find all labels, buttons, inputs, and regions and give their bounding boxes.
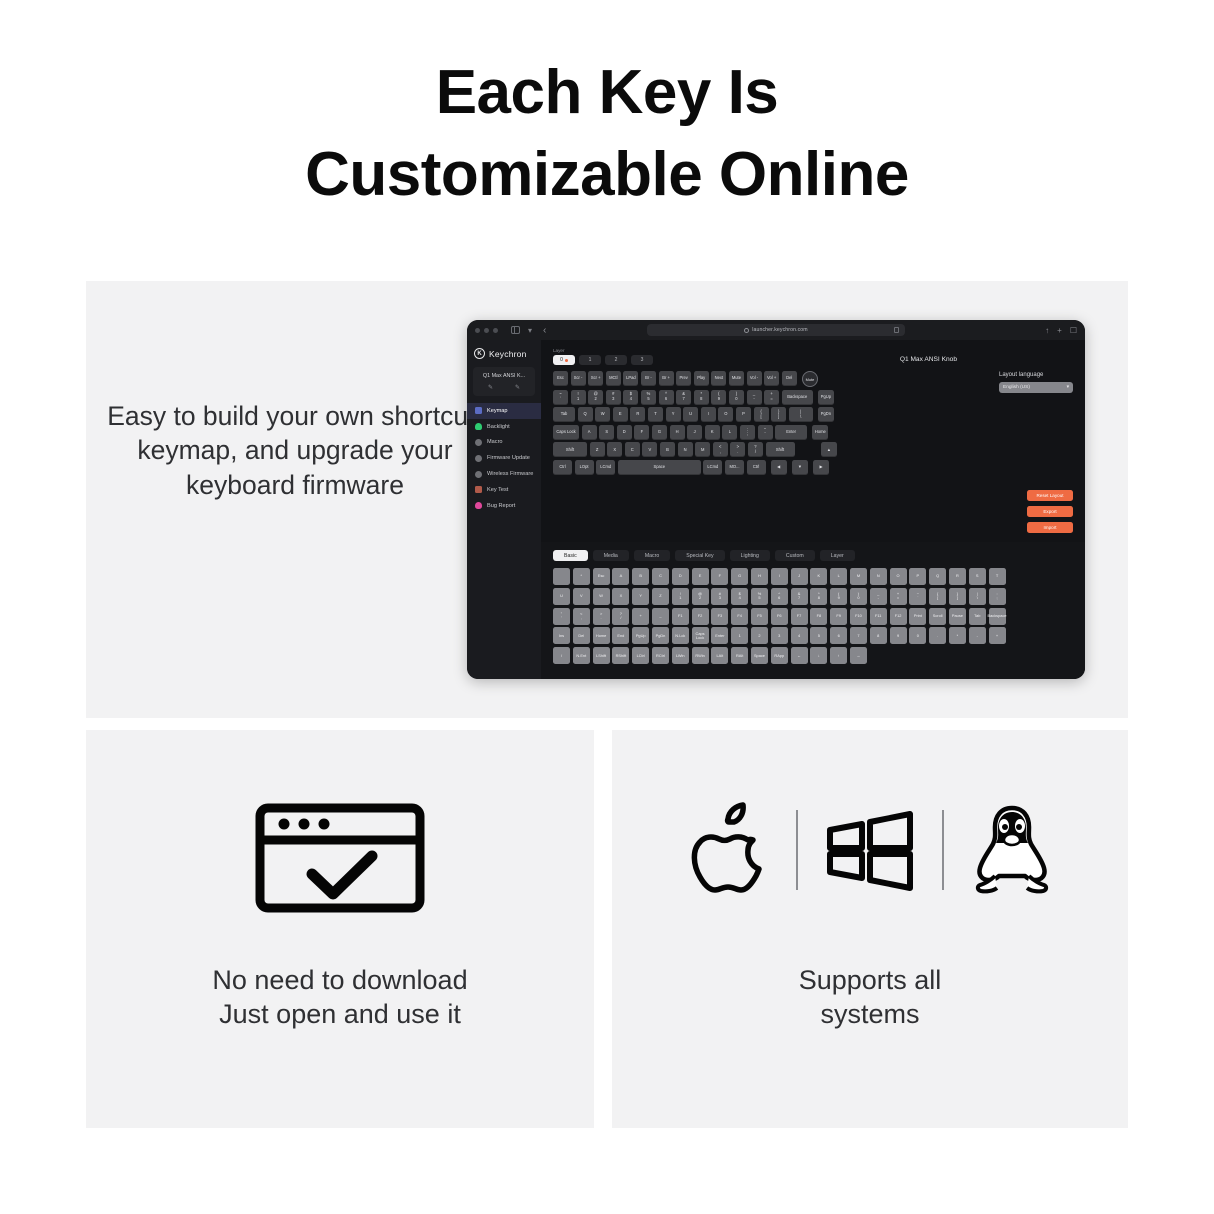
palette-key[interactable]: Y bbox=[632, 588, 649, 605]
keyboard-key[interactable]: <, bbox=[713, 442, 728, 457]
key-legend: Space bbox=[653, 465, 665, 470]
keyboard-key[interactable]: Ctrl bbox=[747, 460, 766, 475]
keyboard-key[interactable]: E bbox=[613, 407, 628, 422]
back-chevron-icon[interactable]: ‹ bbox=[543, 325, 546, 336]
palette-key[interactable]: F10 bbox=[850, 608, 867, 625]
palette-key[interactable]: Pause bbox=[949, 608, 966, 625]
keyboard-key[interactable]: A bbox=[582, 425, 597, 440]
keyboard-key[interactable]: Mute bbox=[729, 371, 744, 386]
brand-name: Keychron bbox=[489, 349, 527, 359]
tab-media[interactable]: Media bbox=[593, 550, 629, 561]
chevron-down-icon: ▾ bbox=[1067, 385, 1069, 390]
palette-key-legend: 6 bbox=[838, 634, 840, 638]
keyboard-key[interactable]: |\ bbox=[789, 407, 813, 422]
keyboard-key[interactable]: V bbox=[642, 442, 657, 457]
keyboard-key[interactable]: "' bbox=[758, 425, 773, 440]
palette-key[interactable]: #3 bbox=[711, 588, 728, 605]
keyboard-key[interactable]: )0 bbox=[729, 390, 744, 405]
tab-basic[interactable]: Basic bbox=[553, 550, 588, 561]
palette-key[interactable]: + bbox=[632, 608, 649, 625]
button-label: Export bbox=[1043, 509, 1056, 514]
palette-key[interactable]: + bbox=[989, 627, 1006, 644]
keyboard-spacer bbox=[800, 442, 816, 457]
keyboard-row: CtrlLOptLCmdSpaceLCmdMO...Ctrl◀▼▶ bbox=[553, 460, 883, 475]
palette-key[interactable]: LAlt bbox=[711, 647, 728, 664]
palette-key[interactable]: * bbox=[573, 568, 590, 585]
key-legend: ◀ bbox=[777, 465, 780, 470]
palette-key[interactable]: F7 bbox=[791, 608, 808, 625]
palette-key[interactable]: 8 bbox=[870, 627, 887, 644]
palette-key[interactable]: }] bbox=[949, 588, 966, 605]
palette-key[interactable]: 1 bbox=[731, 627, 748, 644]
palette-key[interactable]: PgUp bbox=[632, 627, 649, 644]
layer-button-1[interactable]: 1 bbox=[579, 355, 601, 365]
layer-button-2[interactable]: 2 bbox=[605, 355, 627, 365]
keyboard-key[interactable]: Shift bbox=[553, 442, 587, 457]
keyboard-key[interactable]: S bbox=[599, 425, 614, 440]
palette-key[interactable]: (9 bbox=[830, 588, 847, 605]
keyboard-key[interactable]: Br + bbox=[659, 371, 674, 386]
share-icon[interactable]: ↑ bbox=[1045, 326, 1049, 335]
keyboard-key[interactable]: D bbox=[617, 425, 632, 440]
keyboard-key[interactable]: H bbox=[670, 425, 685, 440]
palette-key[interactable]: * bbox=[949, 627, 966, 644]
palette-key[interactable]: += bbox=[890, 588, 907, 605]
palette-key-legend: RCtrl bbox=[656, 654, 665, 658]
palette-key[interactable]: N bbox=[870, 568, 887, 585]
palette-key[interactable]: RShift bbox=[612, 647, 629, 664]
palette-key[interactable]: ?/ bbox=[612, 608, 629, 625]
palette-key[interactable]: F2 bbox=[692, 608, 709, 625]
palette-key[interactable]: Del bbox=[573, 627, 590, 644]
keyboard-key[interactable]: }] bbox=[771, 407, 786, 422]
keyboard-key[interactable]: U bbox=[683, 407, 698, 422]
chevron-down-icon[interactable]: ▾ bbox=[528, 326, 532, 335]
palette-key[interactable]: B bbox=[632, 568, 649, 585]
key-legend: ▶ bbox=[820, 465, 823, 470]
tab-label: Special Key bbox=[686, 553, 713, 559]
plus-icon[interactable]: + bbox=[1057, 326, 1062, 335]
palette-key[interactable]: X bbox=[612, 588, 629, 605]
palette-key[interactable]: R bbox=[949, 568, 966, 585]
palette-key-legend: + bbox=[996, 634, 998, 638]
sidebar-item-bug-report[interactable]: Bug Report bbox=[467, 498, 541, 514]
keyboard-key[interactable]: J bbox=[687, 425, 702, 440]
tab-layer[interactable]: Layer bbox=[820, 550, 855, 561]
keymap-icon bbox=[475, 407, 482, 414]
sidebar-item-label: Backlight bbox=[487, 424, 510, 430]
key-legend: K bbox=[711, 430, 714, 435]
tab-macro[interactable]: Macro bbox=[634, 550, 670, 561]
key-legend-bottom: 8 bbox=[700, 397, 702, 402]
palette-key[interactable]: ~` bbox=[909, 588, 926, 605]
pencil-icon[interactable]: ✎ bbox=[515, 385, 521, 391]
palette-key[interactable]: D bbox=[672, 568, 689, 585]
sidebar-item-backlight[interactable]: Backlight bbox=[467, 419, 541, 435]
palette-key[interactable]: 7 bbox=[850, 627, 867, 644]
sidebar-item-firmware-update[interactable]: Firmware Update bbox=[467, 450, 541, 466]
palette-key[interactable]: F12 bbox=[890, 608, 907, 625]
key-legend: LCmd bbox=[600, 465, 611, 470]
reset-layout-button[interactable]: Reset Layout bbox=[1027, 490, 1073, 501]
keyboard-key[interactable]: ~` bbox=[553, 390, 568, 405]
keyboard-key[interactable]: F bbox=[634, 425, 649, 440]
palette-key[interactable]: RAlt bbox=[731, 647, 748, 664]
divider bbox=[796, 810, 798, 890]
palette-key[interactable]: A bbox=[612, 568, 629, 585]
export-button[interactable]: Export bbox=[1027, 506, 1073, 517]
tab-lighting[interactable]: Lighting bbox=[730, 550, 770, 561]
device-card[interactable]: Q1 Max ANSI K... ✎ ✎ bbox=[473, 367, 535, 396]
key-legend-bottom: 2 bbox=[595, 397, 597, 402]
reader-icon[interactable] bbox=[894, 327, 899, 333]
keyboard-key-arrow[interactable]: ▶ bbox=[813, 460, 829, 475]
palette-key-legend: * bbox=[581, 574, 583, 578]
palette-key[interactable]: LWin bbox=[672, 647, 689, 664]
palette-key[interactable]: >. bbox=[593, 608, 610, 625]
palette-key[interactable]: LCtrl bbox=[632, 647, 649, 664]
palette-key[interactable]: K bbox=[810, 568, 827, 585]
os-icon-row bbox=[686, 802, 1054, 898]
palette-key[interactable]: LShift bbox=[593, 647, 610, 664]
keyboard-key[interactable]: Vol - bbox=[747, 371, 762, 386]
palette-key[interactable]: $4 bbox=[731, 588, 748, 605]
palette-key[interactable]: )0 bbox=[850, 588, 867, 605]
palette-key-legend: E bbox=[699, 574, 702, 578]
palette-key[interactable]: 2 bbox=[751, 627, 768, 644]
browser-window-check-icon bbox=[254, 802, 426, 914]
palette-key[interactable]: F6 bbox=[771, 608, 788, 625]
keyboard-key[interactable]: PgDn bbox=[818, 407, 834, 422]
palette-key[interactable]: Tab bbox=[969, 608, 986, 625]
palette-key[interactable]: RApp bbox=[771, 647, 788, 664]
keyboard-key[interactable]: Prev bbox=[676, 371, 691, 386]
key-legend: D bbox=[623, 430, 626, 435]
palette-key[interactable]: N.Lck bbox=[672, 627, 689, 644]
palette-key[interactable]: _- bbox=[870, 588, 887, 605]
pencil-icon[interactable]: ✎ bbox=[488, 385, 494, 391]
close-icon[interactable] bbox=[475, 328, 480, 333]
palette-key[interactable]: End bbox=[612, 627, 629, 644]
device-card-actions: ✎ ✎ bbox=[477, 385, 531, 391]
layout-language-select[interactable]: English (US) ▾ bbox=[999, 382, 1073, 393]
palette-key[interactable]: ^6 bbox=[771, 588, 788, 605]
palette-key[interactable]: P bbox=[909, 568, 926, 585]
keyboard-key[interactable]: MCtl bbox=[606, 371, 621, 386]
feature-copy: Easy to build your own shortcut, keymap,… bbox=[104, 399, 486, 502]
palette-key[interactable]: F3 bbox=[711, 608, 728, 625]
sidebar-item-wireless-firmware[interactable]: Wireless Firmware bbox=[467, 466, 541, 482]
palette-key[interactable]: 4 bbox=[791, 627, 808, 644]
layout-language-value: English (US) bbox=[1003, 385, 1030, 390]
minimize-icon[interactable] bbox=[484, 328, 489, 333]
linux-penguin-icon bbox=[970, 802, 1054, 898]
keyboard-key[interactable]: Caps Lock bbox=[553, 425, 579, 440]
key-test-icon bbox=[475, 486, 482, 493]
palette-key[interactable]: O bbox=[890, 568, 907, 585]
keyboard-key[interactable]: >. bbox=[730, 442, 745, 457]
keyboard-key[interactable]: G bbox=[652, 425, 667, 440]
caption-line2: systems bbox=[612, 997, 1128, 1032]
keyboard-key[interactable]: LCmd bbox=[703, 460, 722, 475]
palette-key[interactable]: ↑ bbox=[830, 647, 847, 664]
palette-key[interactable]: S bbox=[969, 568, 986, 585]
key-legend-bottom: ; bbox=[747, 432, 748, 437]
palette-key[interactable]: _ bbox=[652, 608, 669, 625]
caption-line2: Just open and use it bbox=[86, 997, 594, 1032]
palette-key[interactable]: %5 bbox=[751, 588, 768, 605]
palette-key[interactable]: "' bbox=[553, 608, 570, 625]
palette-key[interactable]: @2 bbox=[692, 588, 709, 605]
keyboard-key[interactable]: W bbox=[595, 407, 610, 422]
keyboard-key[interactable]: K bbox=[705, 425, 720, 440]
feature-panel-customizable: Easy to build your own shortcut, keymap,… bbox=[86, 281, 1128, 718]
app-body: K Keychron Q1 Max ANSI K... ✎ ✎ Ke bbox=[467, 340, 1085, 679]
layer-button-3[interactable]: 3 bbox=[631, 355, 653, 365]
keyboard-key[interactable]: Ctrl bbox=[553, 460, 572, 475]
key-legend: U bbox=[689, 412, 692, 417]
palette-key[interactable]: Home bbox=[593, 627, 610, 644]
keyboard-key[interactable]: Scr + bbox=[588, 371, 603, 386]
palette-key-legend: N bbox=[877, 574, 880, 578]
palette-key[interactable]: 3 bbox=[771, 627, 788, 644]
palette-key[interactable]: F11 bbox=[870, 608, 887, 625]
palette-key-legend: RApp bbox=[774, 654, 784, 658]
palette-key-legend: F4 bbox=[737, 614, 742, 618]
key-legend: LPad bbox=[626, 376, 636, 381]
palette-key[interactable]: 6 bbox=[830, 627, 847, 644]
import-button[interactable]: Import bbox=[1027, 522, 1073, 533]
key-legend: M bbox=[701, 448, 704, 453]
key-legend-bottom: / bbox=[755, 450, 756, 455]
palette-key[interactable]: :; bbox=[989, 588, 1006, 605]
keyboard-key[interactable]: Next bbox=[711, 371, 726, 386]
palette-key-legend: F2 bbox=[698, 614, 703, 618]
palette-key[interactable]: Scroll bbox=[929, 608, 946, 625]
palette-key[interactable]: M bbox=[850, 568, 867, 585]
palette-key[interactable]: U bbox=[553, 588, 570, 605]
palette-key[interactable]: *8 bbox=[810, 588, 827, 605]
palette-key[interactable]: T bbox=[989, 568, 1006, 585]
palette-key[interactable]: Space bbox=[751, 647, 768, 664]
feature-panel-no-download: No need to download Just open and use it bbox=[86, 730, 594, 1128]
palette-key[interactable]: W bbox=[593, 588, 610, 605]
key-legend: J bbox=[694, 430, 696, 435]
keyboard-key[interactable]: X bbox=[607, 442, 622, 457]
palette-key[interactable]: Caps Lock bbox=[692, 627, 709, 644]
keyboard-key[interactable]: ^6 bbox=[659, 390, 674, 405]
palette-key[interactable]: 0 bbox=[909, 627, 926, 644]
palette-key[interactable]: N.Ent bbox=[573, 647, 590, 664]
keyboard-key[interactable]: (9 bbox=[711, 390, 726, 405]
keyboard-key[interactable]: $4 bbox=[623, 390, 638, 405]
keyboard-key[interactable]: Q bbox=[578, 407, 593, 422]
key-legend: E bbox=[619, 412, 622, 417]
keyboard-key[interactable]: LPad bbox=[623, 371, 638, 386]
keyboard-key[interactable]: LCmd bbox=[596, 460, 615, 475]
key-legend-bottom: 6 bbox=[665, 397, 667, 402]
keyboard-key[interactable]: Del bbox=[782, 371, 797, 386]
palette-key[interactable]: Z bbox=[652, 588, 669, 605]
zoom-icon[interactable] bbox=[493, 328, 498, 333]
keyboard-key-arrow-up[interactable]: ▲ bbox=[821, 442, 837, 457]
palette-key[interactable]: <, bbox=[573, 608, 590, 625]
palette-key[interactable]: G bbox=[731, 568, 748, 585]
palette-key[interactable]: F bbox=[711, 568, 728, 585]
key-legend: ▲ bbox=[827, 448, 831, 453]
keyboard-key-arrow[interactable]: ◀ bbox=[771, 460, 787, 475]
palette-key[interactable]: ← bbox=[791, 647, 808, 664]
palette-key-legend: F6 bbox=[777, 614, 782, 618]
keyboard-row: Caps LockASDFGHJKL:;"'EnterHome bbox=[553, 425, 883, 440]
palette-key[interactable]: Ins bbox=[553, 627, 570, 644]
tabs-icon[interactable]: ☐ bbox=[1070, 326, 1077, 335]
key-legend: B bbox=[666, 448, 669, 453]
keyboard-key[interactable]: M bbox=[695, 442, 710, 457]
keyboard-key[interactable]: *8 bbox=[694, 390, 709, 405]
sidebar-toggle-icon[interactable] bbox=[511, 326, 520, 334]
keyboard-key[interactable]: Enter bbox=[775, 425, 807, 440]
palette-key[interactable]: RCtrl bbox=[652, 647, 669, 664]
palette-key[interactable]: Q bbox=[929, 568, 946, 585]
keyboard-key[interactable]: {[ bbox=[754, 407, 769, 422]
palette-key[interactable]: / bbox=[553, 647, 570, 664]
palette-key-legend: ← bbox=[797, 654, 801, 658]
sidebar-item-macro[interactable]: Macro bbox=[467, 435, 541, 451]
palette-key[interactable]: PgDn bbox=[652, 627, 669, 644]
keyboard-map: EscScr -Scr +MCtlLPadBr -Br +PrevPlayNex… bbox=[553, 371, 883, 478]
keyboard-key[interactable]: P bbox=[736, 407, 751, 422]
tab-custom[interactable]: Custom bbox=[775, 550, 815, 561]
keyboard-key[interactable]: Home bbox=[812, 425, 828, 440]
palette-key-legend: ] bbox=[957, 596, 958, 600]
palette-key[interactable]: Enter bbox=[711, 627, 728, 644]
palette-key[interactable]: RWin bbox=[692, 647, 709, 664]
palette-key-legend: * bbox=[957, 634, 959, 638]
keyboard-key[interactable]: L bbox=[722, 425, 737, 440]
address-bar[interactable]: launcher.keychron.com bbox=[647, 324, 905, 336]
palette-key[interactable]: I bbox=[771, 568, 788, 585]
tab-label: Lighting bbox=[741, 553, 759, 559]
palette-key[interactable]: F5 bbox=[751, 608, 768, 625]
palette-key-legend: 0 bbox=[917, 634, 919, 638]
keyboard-key[interactable]: N bbox=[678, 442, 693, 457]
keyboard-key[interactable]: Z bbox=[590, 442, 605, 457]
knob-label: Mute bbox=[806, 377, 815, 382]
palette-key[interactable]: H bbox=[751, 568, 768, 585]
palette-key[interactable]: L bbox=[830, 568, 847, 585]
palette-key[interactable]: J bbox=[791, 568, 808, 585]
key-legend: MO... bbox=[729, 465, 739, 470]
palette-key[interactable]: !1 bbox=[672, 588, 689, 605]
keyboard-key[interactable]: Tab bbox=[553, 407, 575, 422]
keyboard-key[interactable]: Br - bbox=[641, 371, 656, 386]
key-legend-bottom: ` bbox=[560, 397, 561, 402]
key-legend-bottom: 9 bbox=[718, 397, 720, 402]
keyboard-key[interactable]: !1 bbox=[571, 390, 586, 405]
layer-button-0[interactable]: 0 bbox=[553, 355, 575, 365]
palette-key[interactable]: . bbox=[929, 627, 946, 644]
palette-key-legend: 4 bbox=[798, 634, 800, 638]
keyboard-key[interactable]: O bbox=[718, 407, 733, 422]
palette-key[interactable]: C bbox=[652, 568, 669, 585]
keyboard-key[interactable]: Scr - bbox=[571, 371, 586, 386]
key-palette-section: BasicMediaMacroSpecial KeyLightingCustom… bbox=[541, 542, 1085, 679]
palette-key-legend: K bbox=[818, 574, 821, 578]
palette-key[interactable]: {[ bbox=[929, 588, 946, 605]
keyboard-key[interactable]: &7 bbox=[676, 390, 691, 405]
palette-key[interactable]: F8 bbox=[810, 608, 827, 625]
keyboard-key[interactable]: Shift bbox=[766, 442, 795, 457]
palette-key-legend: LAlt bbox=[717, 654, 724, 658]
keyboard-key[interactable]: #3 bbox=[606, 390, 621, 405]
palette-key[interactable]: &7 bbox=[791, 588, 808, 605]
palette-key-legend: C bbox=[659, 574, 662, 578]
keyboard-key[interactable]: %5 bbox=[641, 390, 656, 405]
palette-key[interactable]: ↓ bbox=[810, 647, 827, 664]
keyboard-key[interactable]: Play bbox=[694, 371, 709, 386]
keyboard-key[interactable]: LOpt bbox=[575, 460, 594, 475]
palette-key[interactable]: 9 bbox=[890, 627, 907, 644]
keyboard-key[interactable]: PgUp bbox=[818, 390, 834, 405]
keyboard-key[interactable]: :; bbox=[740, 425, 755, 440]
keyboard-key[interactable]: Space bbox=[618, 460, 701, 475]
keyboard-key[interactable]: MO... bbox=[725, 460, 744, 475]
palette-key[interactable]: V bbox=[573, 588, 590, 605]
palette-key[interactable]: → bbox=[850, 647, 867, 664]
palette-key-legend: F8 bbox=[817, 614, 822, 618]
keyboard-key[interactable]: @2 bbox=[588, 390, 603, 405]
keyboard-key[interactable]: I bbox=[701, 407, 716, 422]
keyboard-key-arrow[interactable]: ▼ bbox=[792, 460, 808, 475]
palette-key[interactable]: Backspace bbox=[989, 608, 1006, 625]
sidebar-item-key-test[interactable]: Key Test bbox=[467, 482, 541, 498]
palette-key[interactable]: E bbox=[692, 568, 709, 585]
keyboard-key[interactable]: B bbox=[660, 442, 675, 457]
keyboard-key[interactable]: Vol + bbox=[764, 371, 779, 386]
keyboard-key[interactable]: C bbox=[625, 442, 640, 457]
keyboard-key[interactable]: Y bbox=[666, 407, 681, 422]
page-title: Each Key Is Customizable Online bbox=[0, 0, 1214, 216]
keyboard-key[interactable]: _- bbox=[747, 390, 762, 405]
volume-knob[interactable]: Mute bbox=[802, 371, 818, 387]
keyboard-key[interactable]: T bbox=[648, 407, 663, 422]
palette-key[interactable]: Print bbox=[909, 608, 926, 625]
keyboard-key[interactable]: Esc bbox=[553, 371, 568, 386]
key-legend-bottom: 4 bbox=[630, 397, 632, 402]
keyboard-row: TabQWERTYUIOP{[}]|\PgDn bbox=[553, 407, 883, 422]
palette-key[interactable]: - bbox=[969, 627, 986, 644]
palette-key[interactable]: Esc bbox=[593, 568, 610, 585]
palette-key[interactable]: F4 bbox=[731, 608, 748, 625]
palette-key[interactable]: F1 bbox=[672, 608, 689, 625]
palette-key-legend: A bbox=[620, 574, 623, 578]
palette-key-legend: Caps Lock bbox=[693, 632, 708, 641]
keyboard-key[interactable]: Backspace bbox=[782, 390, 813, 405]
keyboard-key[interactable]: R bbox=[630, 407, 645, 422]
tab-label: Macro bbox=[645, 553, 659, 559]
keyboard-key[interactable]: ?/ bbox=[748, 442, 763, 457]
palette-key[interactable]: |\ bbox=[969, 588, 986, 605]
keyboard-key[interactable]: += bbox=[764, 390, 779, 405]
tab-special-key[interactable]: Special Key bbox=[675, 550, 724, 561]
sidebar-item-keymap[interactable]: Keymap bbox=[467, 403, 541, 419]
key-legend: F bbox=[641, 430, 644, 435]
window-traffic-lights[interactable] bbox=[475, 328, 498, 333]
palette-key[interactable] bbox=[553, 568, 570, 585]
palette-key[interactable]: F9 bbox=[830, 608, 847, 625]
palette-key[interactable]: 5 bbox=[810, 627, 827, 644]
